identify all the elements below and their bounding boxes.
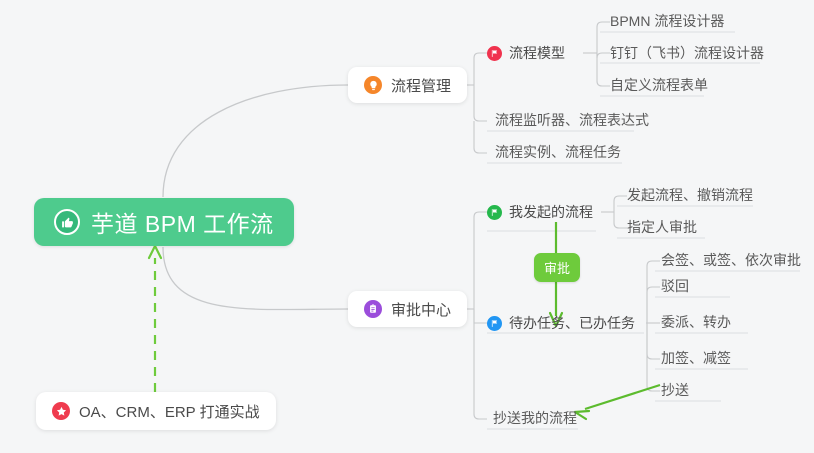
leaf-custom-form[interactable]: 自定义流程表单 [604,70,716,98]
leaf-add-remove-sign[interactable]: 加签、减签 [655,343,739,371]
leaf-delegate-transfer[interactable]: 委派、转办 [655,307,739,335]
node-my-started-process[interactable]: 我发起的流程 [487,198,593,226]
leaf-label: 流程监听器、流程表达式 [495,110,649,130]
branch-label: 流程管理 [391,75,451,96]
leaf-label: 加签、减签 [661,348,731,368]
flag-icon [487,205,502,220]
branch-label: 审批中心 [391,299,451,320]
star-icon [52,402,70,420]
clipboard-icon [364,300,382,318]
leaf-label: 指定人审批 [627,217,697,237]
lightbulb-icon [364,76,382,94]
green-dashed-connector [149,246,161,392]
bottom-node-label: OA、CRM、ERP 打通实战 [79,401,260,422]
leaf-bpmn-designer[interactable]: BPMN 流程设计器 [604,6,732,34]
leaf-label: 钉钉（飞书）流程设计器 [610,43,764,63]
branch-approval-center[interactable]: 审批中心 [348,291,467,327]
node-process-model[interactable]: 流程模型 [487,39,565,67]
leaf-label: 抄送我的流程 [493,408,577,428]
branch-process-management[interactable]: 流程管理 [348,67,467,103]
leaf-label: 流程实例、流程任务 [495,142,621,162]
node-label: 我发起的流程 [509,202,593,222]
bottom-node-oa-crm-erp[interactable]: OA、CRM、ERP 打通实战 [36,392,276,430]
leaf-label: 自定义流程表单 [610,75,708,95]
leaf-start-cancel-process[interactable]: 发起流程、撤销流程 [621,180,761,208]
node-todo-done-tasks[interactable]: 待办任务、已办任务 [487,309,635,337]
badge-label: 审批 [544,261,570,276]
node-label: 待办任务、已办任务 [509,313,635,333]
leaf-process-instance[interactable]: 流程实例、流程任务 [489,137,629,165]
node-label: 流程模型 [509,43,565,63]
leaf-cc-to-me[interactable]: 抄送我的流程 [487,403,585,431]
leaf-label: 委派、转办 [661,312,731,332]
leaf-cc[interactable]: 抄送 [655,375,697,403]
leaf-dingtalk-designer[interactable]: 钉钉（飞书）流程设计器 [604,38,772,66]
leaf-label: 发起流程、撤销流程 [627,185,753,205]
leaf-assignee-approval[interactable]: 指定人审批 [621,212,705,240]
leaf-label: 抄送 [661,380,689,400]
thumbs-up-icon [54,209,80,235]
leaf-reject[interactable]: 驳回 [655,271,697,299]
root-label: 芋道 BPM 工作流 [91,205,274,239]
flag-icon [487,316,502,331]
leaf-label: 驳回 [661,276,689,296]
approval-badge[interactable]: 审批 [534,253,580,282]
leaf-label: BPMN 流程设计器 [610,11,724,31]
cc-flow-arrow [575,385,660,419]
leaf-countersign[interactable]: 会签、或签、依次审批 [655,245,809,273]
root-node[interactable]: 芋道 BPM 工作流 [34,198,294,246]
mindmap-canvas: 芋道 BPM 工作流 流程管理 流程模型 BPMN 流程设计器 钉钉（飞书）流程… [0,0,814,453]
leaf-label: 会签、或签、依次审批 [661,250,801,270]
leaf-process-listener[interactable]: 流程监听器、流程表达式 [489,105,657,133]
flag-icon [487,46,502,61]
